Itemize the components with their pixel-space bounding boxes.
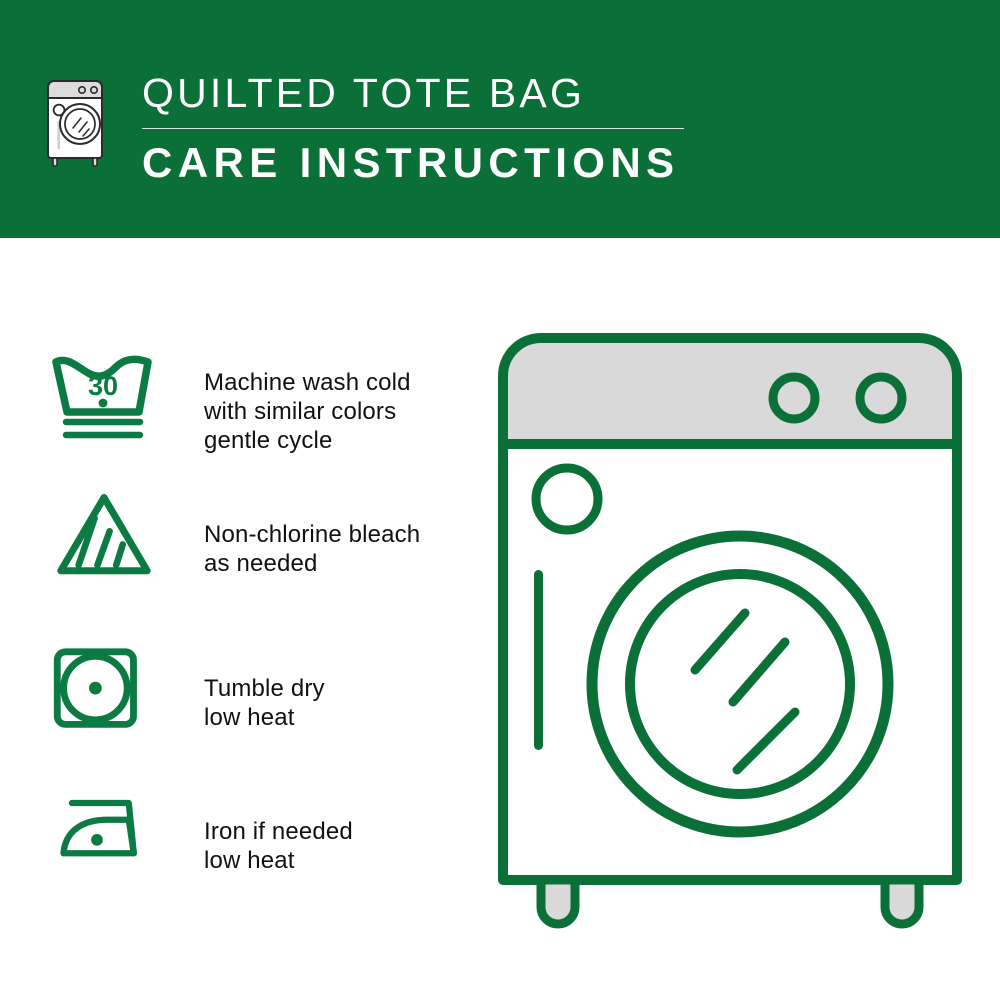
leg-left (541, 880, 575, 924)
non-chlorine-bleach-triangle-icon (50, 490, 158, 587)
care-instructions-page: QUILTED TOTE BAG CARE INSTRUCTIONS (0, 0, 1000, 1000)
care-instruction-list: 30 Machine wash cold with similar colors… (0, 238, 470, 1000)
wash-temperature-label: 30 (88, 371, 118, 401)
care-item-bleach: Non-chlorine bleach as needed (50, 490, 470, 587)
detergent-bar (534, 570, 543, 750)
care-item-tumble-dry: Tumble dry low heat (50, 643, 470, 740)
tumble-dry-low-heat-icon (50, 643, 158, 740)
header-title-group: QUILTED TOTE BAG CARE INSTRUCTIONS (140, 68, 760, 188)
care-item-machine-wash-label: Machine wash cold with similar colors ge… (204, 368, 470, 455)
care-item-iron-label: Iron if needed low heat (204, 817, 470, 875)
header-banner: QUILTED TOTE BAG CARE INSTRUCTIONS (0, 0, 1000, 238)
leg-right (885, 880, 919, 924)
control-panel (503, 338, 957, 444)
door-shine-lines (695, 613, 795, 770)
care-item-iron: Iron if needed low heat (50, 793, 470, 880)
door-outer-ring (592, 536, 888, 832)
care-item-tumble-dry-label: Tumble dry low heat (204, 674, 470, 732)
title-divider (142, 128, 684, 129)
indicator-light (536, 468, 598, 530)
iron-low-heat-icon (50, 793, 158, 880)
machine-wash-30-gentle-icon: 30 (50, 350, 158, 453)
brand-washing-machine-icon (42, 66, 114, 170)
front-load-washing-machine-illustration (495, 330, 965, 930)
care-item-machine-wash: 30 Machine wash cold with similar colors… (50, 350, 470, 455)
product-title: QUILTED TOTE BAG (140, 68, 760, 118)
care-item-bleach-label: Non-chlorine bleach as needed (204, 520, 470, 578)
page-title: CARE INSTRUCTIONS (140, 138, 760, 188)
